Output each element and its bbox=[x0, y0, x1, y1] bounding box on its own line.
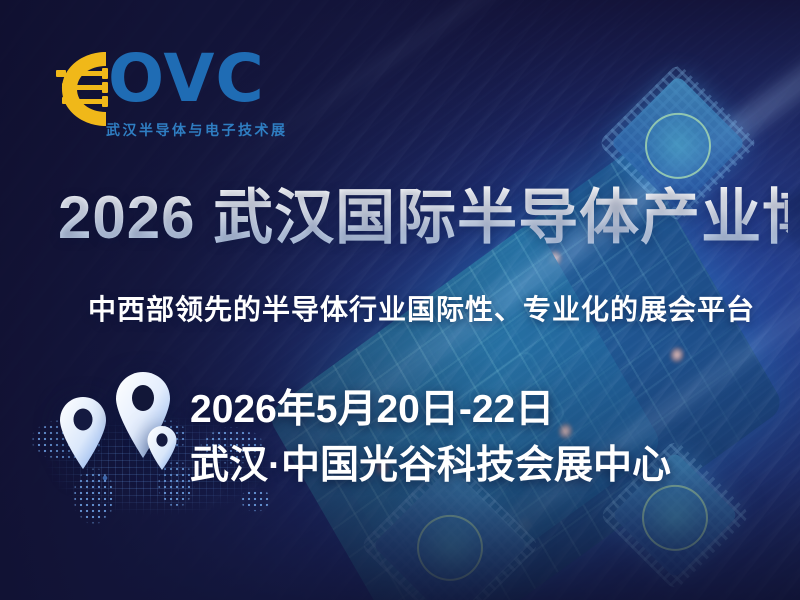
event-poster: OVC 武汉半导体与电子技术展 2026 武汉国际半导体产业博览会 中西部领先的… bbox=[0, 0, 800, 600]
ovc-circuit-crescent-icon bbox=[56, 50, 110, 133]
ovc-wordmark: OVC bbox=[108, 46, 265, 112]
event-date: 2026年5月20日-22日 bbox=[190, 378, 554, 434]
page-subtitle: 中西部领先的半导体行业国际性、专业化的展会平台 bbox=[88, 288, 728, 328]
event-venue: 武汉·中国光谷科技会展中心 bbox=[190, 434, 671, 490]
logo-chinese-tagline: 武汉半导体与电子技术展 bbox=[106, 120, 288, 140]
location-pin-icon bbox=[55, 395, 111, 471]
ovc-logo: OVC 武汉半导体与电子技术展 bbox=[56, 48, 256, 148]
location-pin-icon bbox=[145, 425, 179, 471]
page-title: 2026 武汉国际半导体产业博览会 bbox=[58, 186, 788, 251]
